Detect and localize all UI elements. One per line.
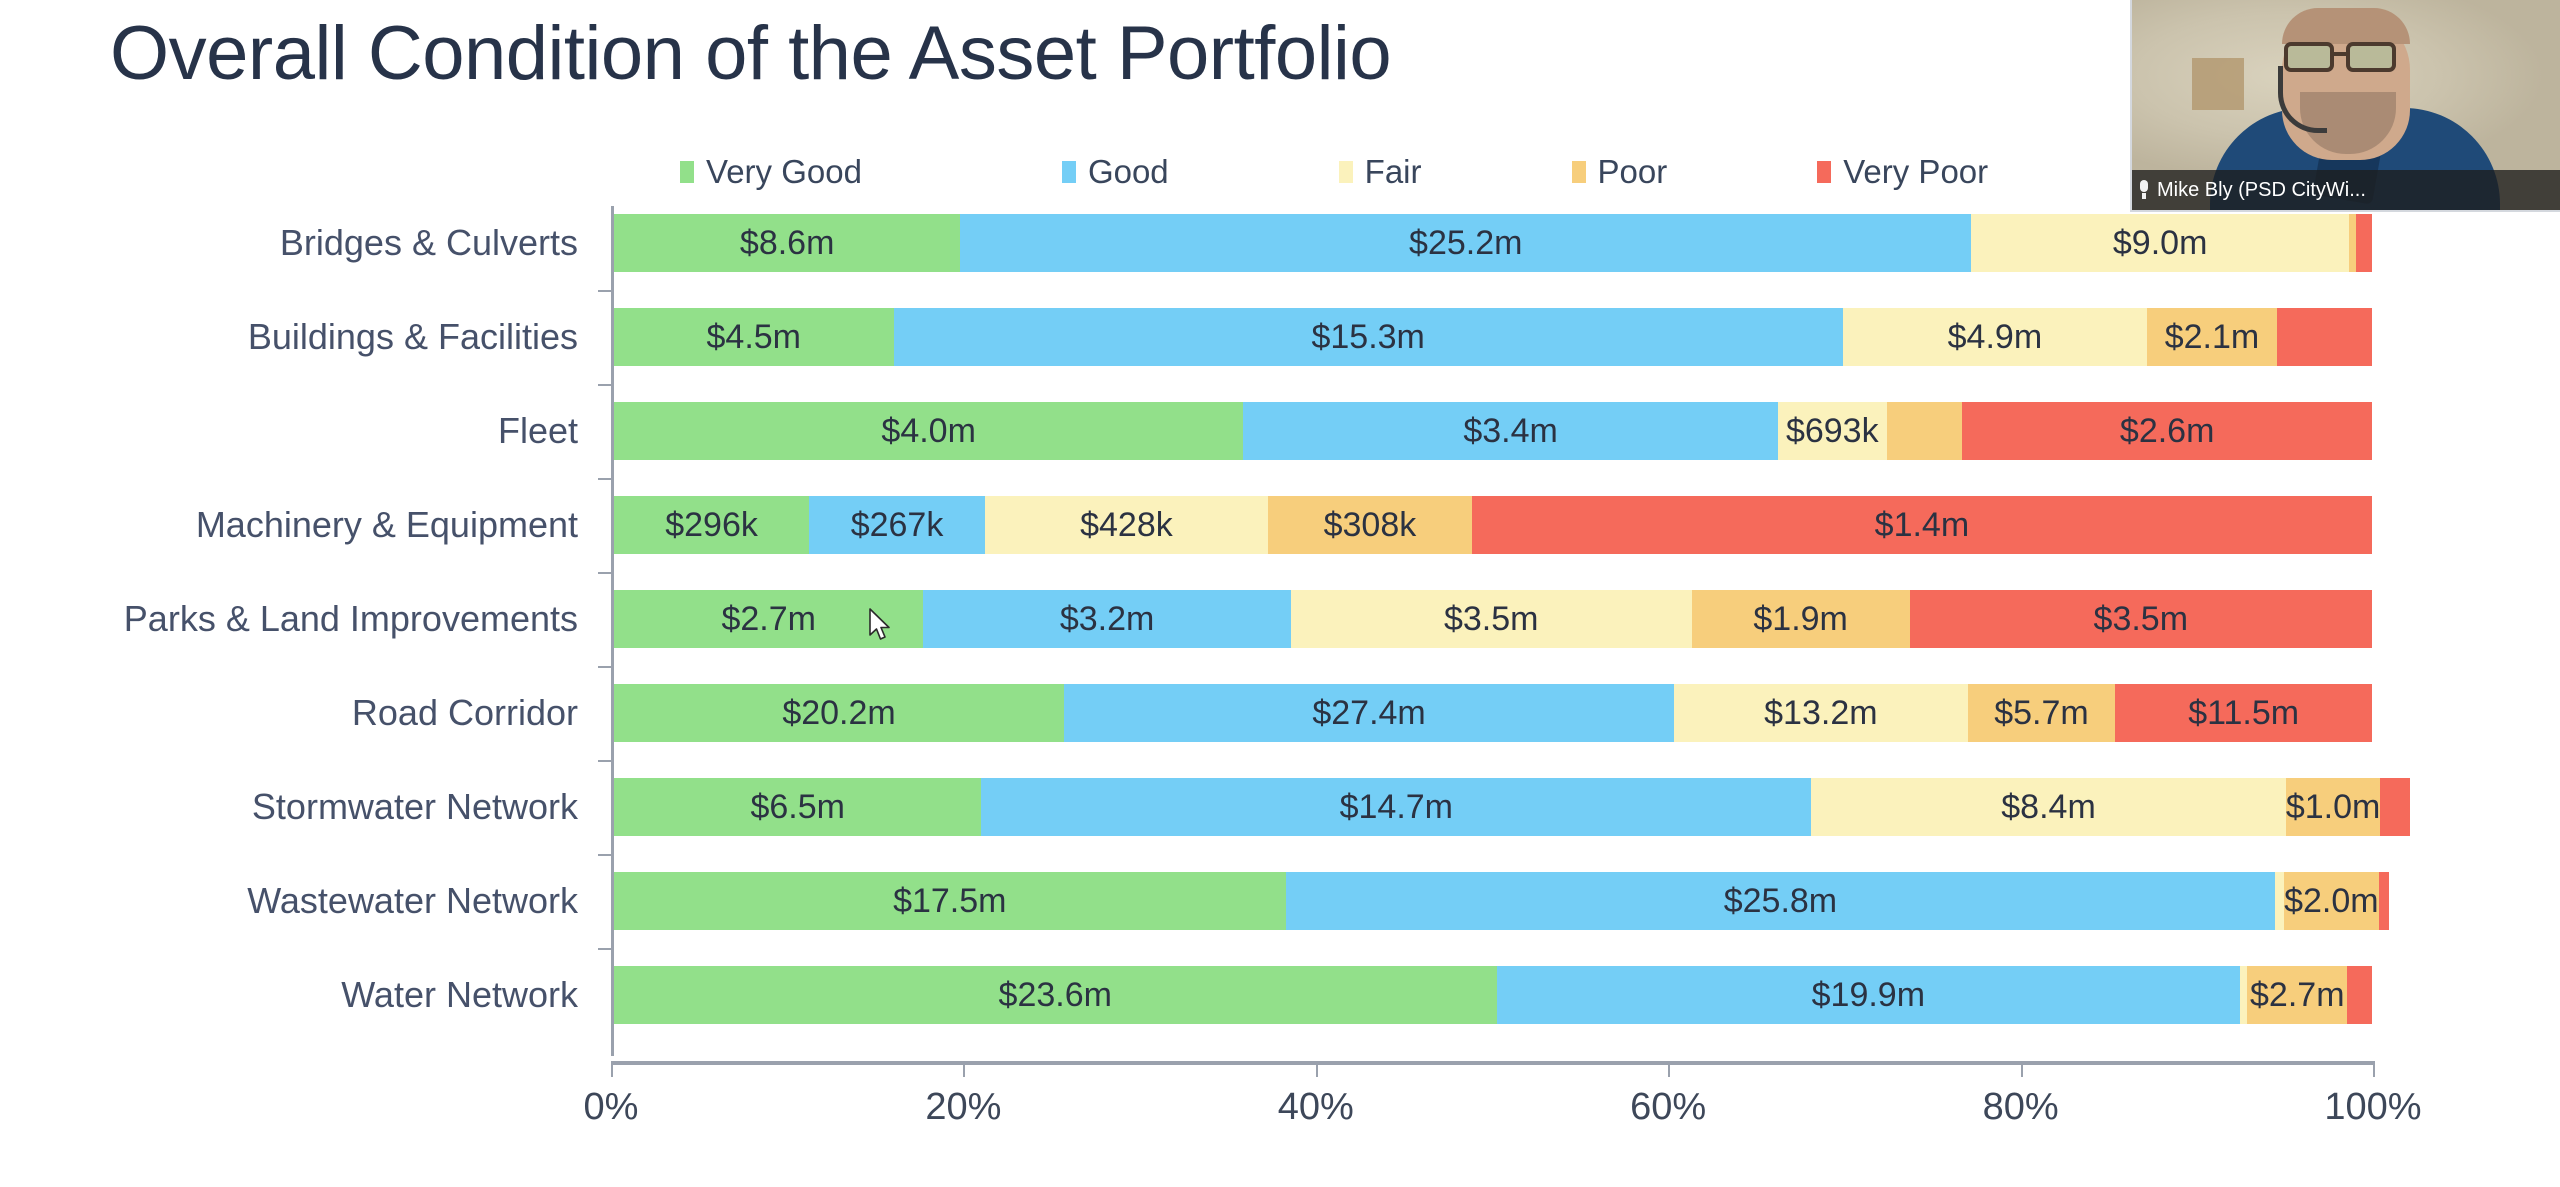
bar-segment-value-label: $2.1m — [2165, 318, 2260, 357]
chart-row: Buildings & Facilities$4.5m$15.3m$4.9m$2… — [0, 290, 2560, 384]
bar-segment-value-label: $2.0m — [2284, 882, 2379, 921]
bar-segment-very-poor[interactable]: $2.6m — [1962, 402, 2372, 460]
bar-segment-good[interactable]: $25.2m — [960, 214, 1971, 272]
value-axis-tick-label: 60% — [1630, 1086, 1706, 1129]
bar-segment-value-label: $9.0m — [2113, 224, 2208, 263]
stacked-bar: $17.5m$25.8m$2.0m — [614, 872, 2372, 930]
bar-segment-value-label: $3.4m — [1463, 412, 1558, 451]
bar-segment-good[interactable]: $3.2m — [923, 590, 1290, 648]
bar-segment-value-label: $25.2m — [1409, 224, 1522, 263]
bar-segment-fair[interactable]: $4.9m — [1843, 308, 2147, 366]
bar-segment-value-label: $14.7m — [1340, 788, 1453, 827]
chart-row: Wastewater Network$17.5m$25.8m$2.0m — [0, 854, 2560, 948]
bar-segment-very-good[interactable]: $20.2m — [614, 684, 1064, 742]
bar-segment-very-good[interactable]: $4.0m — [614, 402, 1243, 460]
category-label: Stormwater Network — [0, 760, 578, 854]
bar-segment-value-label: $2.7m — [2250, 976, 2345, 1015]
bar-segment-value-label: $1.4m — [1875, 506, 1970, 545]
legend-swatch-icon — [1572, 161, 1586, 183]
bar-segment-good[interactable]: $14.7m — [981, 778, 1811, 836]
stacked-bar-chart: Bridges & Culverts$8.6m$25.2m$9.0mBuildi… — [0, 196, 2560, 1066]
category-label: Buildings & Facilities — [0, 290, 578, 384]
legend-item-good[interactable]: Good — [1062, 153, 1169, 191]
category-label: Fleet — [0, 384, 578, 478]
legend-swatch-icon — [1062, 161, 1076, 183]
bar-segment-value-label: $8.4m — [2001, 788, 2096, 827]
category-axis-tick — [598, 854, 611, 856]
chart-row: Water Network$23.6m$19.9m$2.7m — [0, 948, 2560, 1042]
webcam-video-tile[interactable]: Mike Bly (PSD CityWi... — [2130, 0, 2560, 212]
chart-row: Machinery & Equipment$296k$267k$428k$308… — [0, 478, 2560, 572]
bar-segment-good[interactable]: $3.4m — [1243, 402, 1777, 460]
value-axis-tick-label: 20% — [925, 1086, 1001, 1129]
chart-legend: Very GoodGoodFairPoorVery Poor — [680, 152, 1988, 192]
bar-segment-fair[interactable]: $9.0m — [1971, 214, 2349, 272]
stacked-bar: $23.6m$19.9m$2.7m — [614, 966, 2372, 1024]
page-title: Overall Condition of the Asset Portfolio — [110, 10, 1391, 97]
category-label: Road Corridor — [0, 666, 578, 760]
bar-segment-value-label: $3.2m — [1060, 600, 1155, 639]
bar-segment-value-label: $5.7m — [1994, 694, 2089, 733]
bar-segment-poor[interactable] — [2349, 214, 2356, 272]
legend-item-label: Fair — [1365, 153, 1422, 191]
bar-segment-value-label: $3.5m — [1444, 600, 1539, 639]
chart-row: Fleet$4.0m$3.4m$693k$2.6m — [0, 384, 2560, 478]
bar-segment-fair[interactable]: $428k — [985, 496, 1268, 554]
bar-segment-very-poor[interactable] — [2356, 214, 2372, 272]
bar-segment-good[interactable]: $27.4m — [1064, 684, 1674, 742]
bar-segment-value-label: $428k — [1080, 506, 1173, 545]
bar-segment-very-poor[interactable]: $1.4m — [1472, 496, 2372, 554]
legend-swatch-icon — [680, 161, 694, 183]
bar-segment-poor[interactable]: $2.0m — [2284, 872, 2379, 930]
legend-item-fair[interactable]: Fair — [1339, 153, 1422, 191]
category-axis-tick — [598, 384, 611, 386]
bar-segment-value-label: $23.6m — [999, 976, 1112, 1015]
legend-item-label: Very Poor — [1843, 153, 1988, 191]
bar-segment-poor[interactable]: $1.9m — [1692, 590, 1910, 648]
bar-segment-very-good[interactable]: $6.5m — [614, 778, 981, 836]
value-axis-tick — [963, 1061, 965, 1077]
category-axis-tick — [598, 572, 611, 574]
category-label: Machinery & Equipment — [0, 478, 578, 572]
bar-segment-value-label: $15.3m — [1311, 318, 1424, 357]
value-axis-tick-label: 40% — [1278, 1086, 1354, 1129]
category-label: Wastewater Network — [0, 854, 578, 948]
category-axis-tick — [598, 478, 611, 480]
bar-segment-fair[interactable] — [2240, 966, 2247, 1024]
bar-segment-very-poor[interactable] — [2347, 966, 2372, 1024]
legend-item-label: Poor — [1598, 153, 1668, 191]
stacked-bar: $4.5m$15.3m$4.9m$2.1m — [614, 308, 2372, 366]
bar-segment-very-poor[interactable] — [2379, 872, 2390, 930]
bar-segment-value-label: $8.6m — [740, 224, 835, 263]
bar-segment-very-good[interactable]: $8.6m — [614, 214, 960, 272]
category-label: Bridges & Culverts — [0, 196, 578, 290]
bar-segment-good[interactable]: $15.3m — [894, 308, 1843, 366]
chart-row: Parks & Land Improvements$2.7m$3.2m$3.5m… — [0, 572, 2560, 666]
legend-item-very-good[interactable]: Very Good — [680, 153, 862, 191]
bar-segment-very-good[interactable]: $4.5m — [614, 308, 894, 366]
bar-segment-poor[interactable]: $308k — [1268, 496, 1472, 554]
bar-segment-value-label: $693k — [1786, 412, 1879, 451]
bar-segment-fair[interactable] — [2275, 872, 2284, 930]
value-axis-line — [611, 1061, 2373, 1065]
stacked-bar: $6.5m$14.7m$8.4m$1.0m — [614, 778, 2372, 836]
glasses-bridge — [2334, 52, 2346, 56]
bar-segment-good[interactable]: $19.9m — [1497, 966, 2241, 1024]
bar-segment-value-label: $25.8m — [1724, 882, 1837, 921]
chart-row: Stormwater Network$6.5m$14.7m$8.4m$1.0m — [0, 760, 2560, 854]
bar-segment-very-good[interactable]: $2.7m — [614, 590, 923, 648]
legend-swatch-icon — [1339, 161, 1353, 183]
bar-segment-value-label: $27.4m — [1312, 694, 1425, 733]
legend-item-poor[interactable]: Poor — [1572, 153, 1668, 191]
bar-segment-fair[interactable]: $3.5m — [1291, 590, 1692, 648]
bar-segment-value-label: $4.5m — [707, 318, 802, 357]
category-label: Parks & Land Improvements — [0, 572, 578, 666]
bar-segment-value-label: $13.2m — [1764, 694, 1877, 733]
value-axis-tick — [611, 1061, 613, 1077]
bar-segment-value-label: $20.2m — [782, 694, 895, 733]
webcam-name-bar: Mike Bly (PSD CityWi... — [2132, 170, 2560, 210]
bar-segment-value-label: $11.5m — [2188, 694, 2299, 733]
bar-segment-good[interactable]: $267k — [809, 496, 985, 554]
bar-segment-value-label: $267k — [851, 506, 944, 545]
glasses-right-lens — [2346, 42, 2396, 72]
chart-row: Road Corridor$20.2m$27.4m$13.2m$5.7m$11.… — [0, 666, 2560, 760]
bar-segment-value-label: $4.0m — [881, 412, 976, 451]
bar-segment-very-good[interactable]: $17.5m — [614, 872, 1286, 930]
category-axis-tick — [598, 948, 611, 950]
legend-swatch-icon — [1817, 161, 1831, 183]
bar-segment-value-label: $17.5m — [893, 882, 1006, 921]
bar-segment-value-label: $1.9m — [1753, 600, 1848, 639]
bar-segment-value-label: $296k — [665, 506, 758, 545]
stacked-bar: $296k$267k$428k$308k$1.4m — [614, 496, 2372, 554]
bar-segment-poor[interactable]: $2.1m — [2147, 308, 2277, 366]
webcam-person-hair — [2282, 8, 2410, 44]
bar-segment-value-label: $2.6m — [2120, 412, 2215, 451]
bar-segment-very-poor[interactable]: $11.5m — [2115, 684, 2372, 742]
value-axis-tick-label: 80% — [1983, 1086, 2059, 1129]
category-axis-tick — [598, 290, 611, 292]
webcam-wall-art — [2192, 58, 2244, 110]
bar-segment-poor[interactable]: $5.7m — [1968, 684, 2116, 742]
bar-segment-fair[interactable]: $693k — [1778, 402, 1887, 460]
value-axis-tick — [2021, 1061, 2023, 1077]
bar-segment-poor[interactable] — [1887, 402, 1963, 460]
bar-segment-value-label: $308k — [1324, 506, 1417, 545]
bar-segment-poor[interactable]: $2.7m — [2247, 966, 2347, 1024]
bar-segment-very-good[interactable]: $23.6m — [614, 966, 1497, 1024]
legend-item-label: Good — [1088, 153, 1169, 191]
bar-segment-fair[interactable]: $8.4m — [1811, 778, 2286, 836]
stacked-bar: $4.0m$3.4m$693k$2.6m — [614, 402, 2372, 460]
bar-segment-very-poor[interactable] — [2380, 778, 2410, 836]
bar-segment-fair[interactable]: $13.2m — [1674, 684, 1968, 742]
bar-segment-very-poor[interactable] — [2277, 308, 2372, 366]
bar-segment-value-label: $4.9m — [1948, 318, 2043, 357]
microphone-icon — [2138, 180, 2150, 200]
value-axis-tick — [2373, 1061, 2375, 1077]
bar-segment-very-poor[interactable]: $3.5m — [1910, 590, 2372, 648]
bar-segment-value-label: $3.5m — [2094, 600, 2189, 639]
stacked-bar: $2.7m$3.2m$3.5m$1.9m$3.5m — [614, 590, 2372, 648]
value-axis-tick-label: 100% — [2324, 1086, 2421, 1129]
bar-segment-value-label: $2.7m — [721, 600, 816, 639]
webcam-participant-name: Mike Bly (PSD CityWi... — [2157, 179, 2366, 202]
legend-item-label: Very Good — [706, 153, 862, 191]
legend-item-very-poor[interactable]: Very Poor — [1817, 153, 1988, 191]
bar-segment-very-good[interactable]: $296k — [614, 496, 809, 554]
bar-segment-good[interactable]: $25.8m — [1286, 872, 2276, 930]
value-axis-tick-label: 0% — [584, 1086, 639, 1129]
category-axis-tick — [598, 666, 611, 668]
stacked-bar: $20.2m$27.4m$13.2m$5.7m$11.5m — [614, 684, 2372, 742]
bar-segment-poor[interactable]: $1.0m — [2286, 778, 2381, 836]
value-axis-tick — [1668, 1061, 1670, 1077]
value-axis-tick — [1316, 1061, 1318, 1077]
bar-segment-value-label: $1.0m — [2286, 788, 2381, 827]
stacked-bar: $8.6m$25.2m$9.0m — [614, 214, 2372, 272]
category-label: Water Network — [0, 948, 578, 1042]
bar-segment-value-label: $6.5m — [750, 788, 845, 827]
bar-segment-value-label: $19.9m — [1812, 976, 1925, 1015]
category-axis-tick — [598, 760, 611, 762]
